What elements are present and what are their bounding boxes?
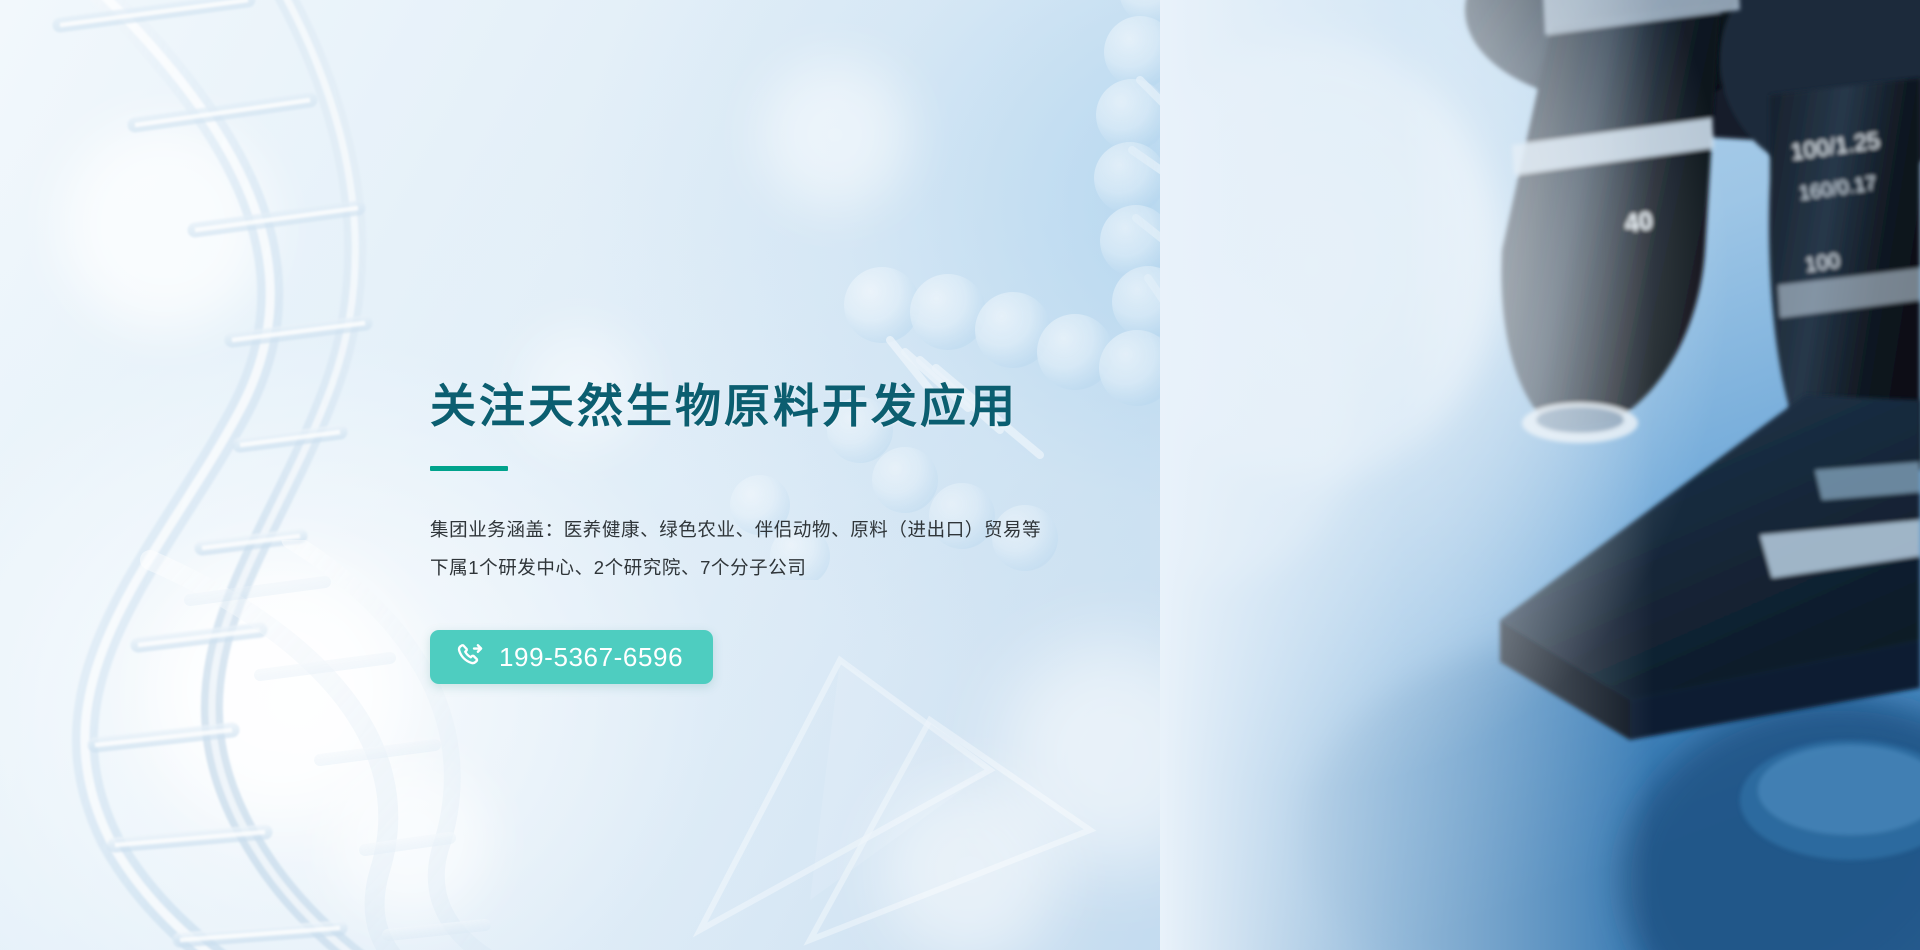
bokeh-light [150,560,410,820]
phone-cta-button[interactable]: 199-5367-6596 [430,630,713,684]
bokeh-light [760,60,910,210]
objective-marking-100-125: 100/1.25 [1789,127,1881,165]
hero-description: 集团业务涵盖：医养健康、绿色农业、伴侣动物、原料（进出口）贸易等 下属1个研发中… [430,511,1330,587]
bokeh-light [1180,80,1370,270]
objective-marking-100: 100 [1803,249,1841,277]
hero-description-line-2: 下属1个研发中心、2个研究院、7个分子公司 [430,549,1330,587]
phone-number-label: 199-5367-6596 [499,644,683,670]
phone-forward-icon [455,642,485,672]
hero-banner: 40 100/1.25 160/0.17 100 [0,0,1920,950]
bokeh-light [330,760,490,920]
objective-marking-160-017: 160/0.17 [1798,172,1878,205]
bokeh-light [880,780,1060,950]
hero-content: 关注天然生物原料开发应用 集团业务涵盖：医养健康、绿色农业、伴侣动物、原料（进出… [430,380,1330,684]
bokeh-light [60,120,270,330]
title-divider [430,466,508,471]
hero-description-line-1: 集团业务涵盖：医养健康、绿色农业、伴侣动物、原料（进出口）贸易等 [430,511,1330,549]
page-title: 关注天然生物原料开发应用 [430,380,1330,433]
objective-marking-40: 40 [1623,207,1654,238]
